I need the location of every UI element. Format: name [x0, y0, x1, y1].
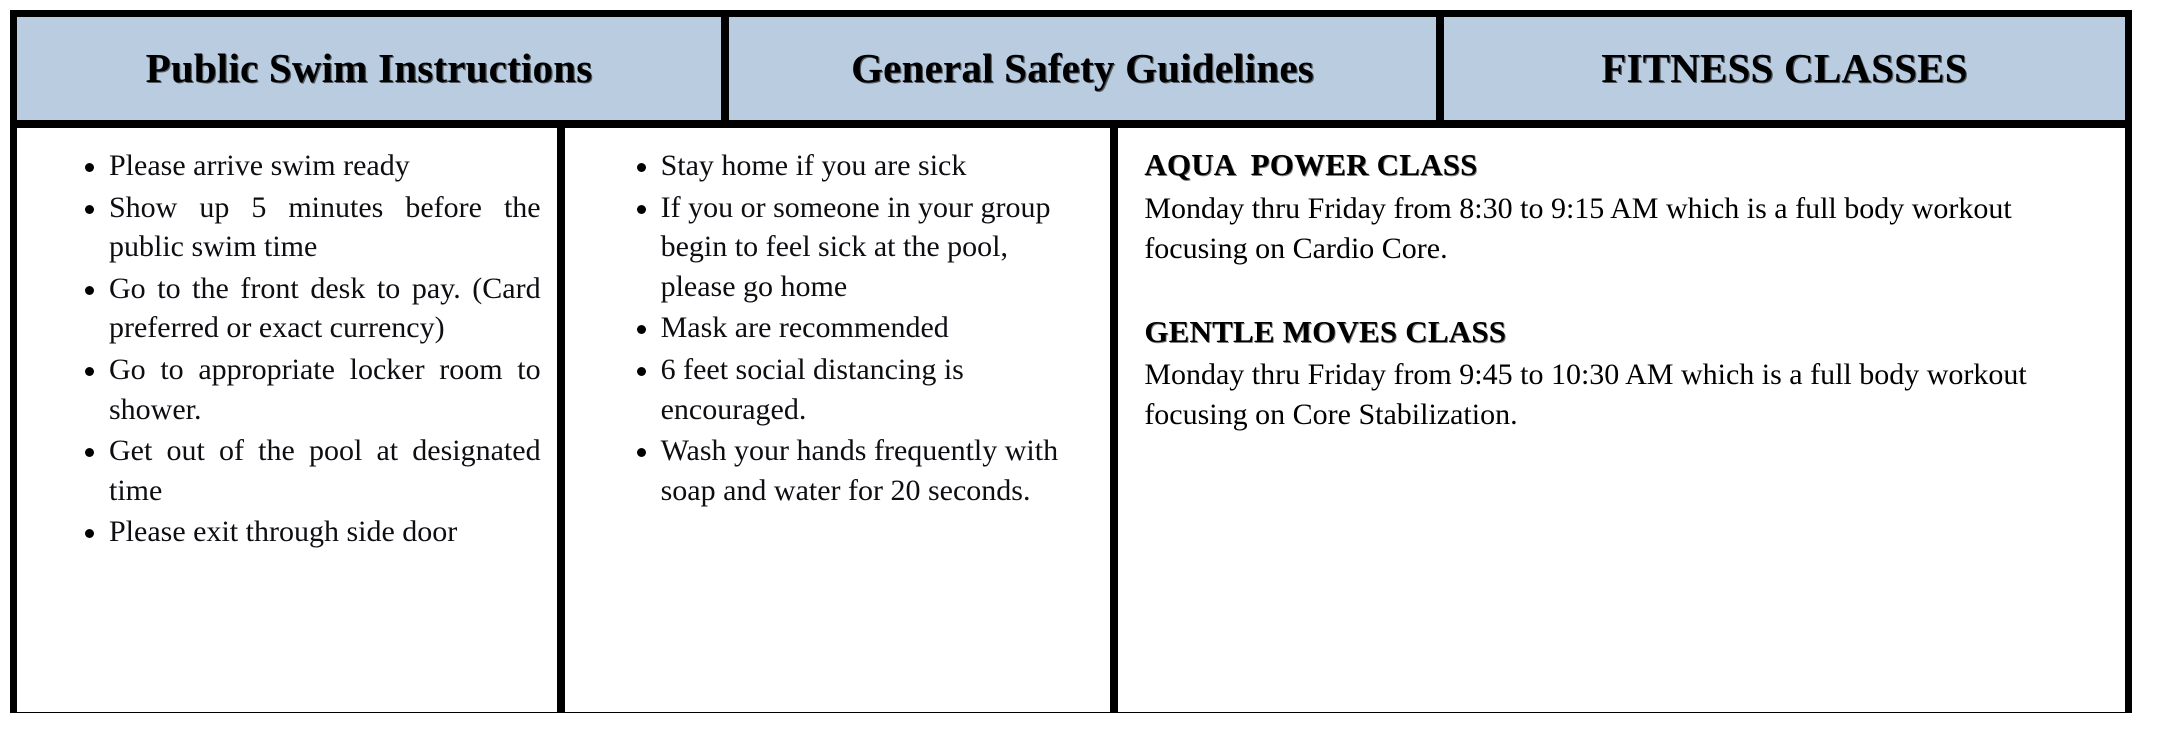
list-item: Get out of the pool at designated time — [63, 431, 541, 510]
column-header-title: Public Swim Instructions — [146, 46, 593, 91]
column-header-title: General Safety Guidelines — [851, 46, 1314, 91]
body-cell-public-swim-instructions: Please arrive swim ready Show up 5 minut… — [17, 128, 557, 712]
fitness-class-entry: AQUA POWER CLASS Monday thru Friday from… — [1144, 146, 2103, 269]
fitness-class-description: Monday thru Friday from 9:45 to 10:30 AM… — [1144, 355, 2103, 435]
column-divider-2-body — [1110, 128, 1118, 712]
fitness-class-name: GENTLE MOVES CLASS — [1144, 313, 2103, 352]
header-cell-general-safety-guidelines: General Safety Guidelines — [729, 17, 1436, 120]
list-item: Please arrive swim ready — [63, 146, 541, 186]
pool-information-poster: Public Swim Instructions General Safety … — [0, 0, 2160, 730]
list-item: Show up 5 minutes before the public swim… — [63, 188, 541, 267]
list-item: Wash your hands frequently with soap and… — [615, 431, 1071, 510]
list-item: Mask are recommended — [615, 308, 1071, 348]
list-item: If you or someone in your group begin to… — [615, 188, 1071, 307]
fitness-class-name: AQUA POWER CLASS — [1144, 146, 2103, 185]
column-divider-2 — [1436, 17, 1444, 120]
list-item: Go to appropriate locker room to shower. — [63, 350, 541, 429]
fitness-class-entry: GENTLE MOVES CLASS Monday thru Friday fr… — [1144, 313, 2103, 436]
list-item: Stay home if you are sick — [615, 146, 1071, 186]
information-table: Public Swim Instructions General Safety … — [10, 10, 2132, 713]
general-safety-guidelines-list: Stay home if you are sick If you or some… — [593, 146, 1101, 510]
list-item: Please exit through side door — [63, 512, 541, 552]
header-cell-public-swim-instructions: Public Swim Instructions — [17, 17, 721, 120]
column-header-title: FITNESS CLASSES — [1601, 46, 1967, 91]
list-item: 6 feet social distancing is encouraged. — [615, 350, 1071, 429]
table-body-row: Please arrive swim ready Show up 5 minut… — [17, 128, 2125, 712]
public-swim-instructions-list: Please arrive swim ready Show up 5 minut… — [29, 146, 547, 552]
body-cell-general-safety-guidelines: Stay home if you are sick If you or some… — [565, 128, 1111, 712]
column-divider-1 — [721, 17, 729, 120]
column-divider-1-body — [557, 128, 565, 712]
list-item: Go to the front desk to pay. (Card prefe… — [63, 269, 541, 348]
fitness-class-description: Monday thru Friday from 8:30 to 9:15 AM … — [1144, 189, 2103, 269]
header-cell-fitness-classes: FITNESS CLASSES — [1444, 17, 2125, 120]
body-cell-fitness-classes: AQUA POWER CLASS Monday thru Friday from… — [1118, 128, 2125, 712]
table-header-row: Public Swim Instructions General Safety … — [17, 17, 2125, 128]
